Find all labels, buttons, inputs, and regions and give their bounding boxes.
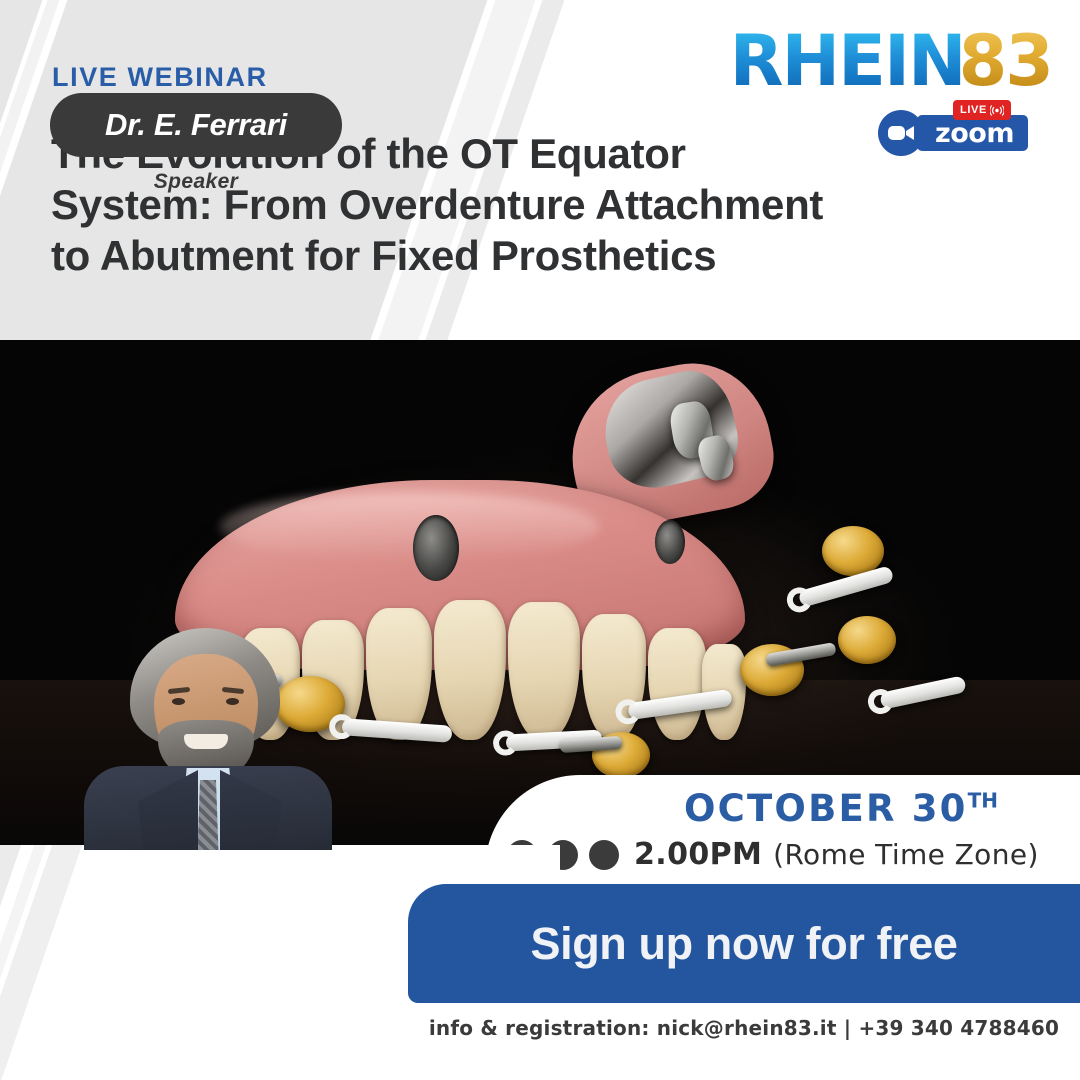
title-line-3: to Abutment for Fixed Prosthetics — [51, 230, 951, 281]
event-timezone: (Rome Time Zone) — [773, 838, 1039, 871]
denture-gum-highlight — [220, 492, 600, 562]
broadcast-waves-icon — [990, 105, 1004, 116]
event-time: 2.00PM (Rome Time Zone) — [634, 837, 1039, 872]
zoom-live-badge: LIVE zoom — [878, 110, 1028, 156]
speaker-name-label: Dr. E. Ferrari — [105, 107, 287, 143]
speaker-name-pill: Dr. E. Ferrari — [50, 93, 342, 157]
live-badge-label: LIVE — [960, 104, 987, 116]
brand-83-text: 83 — [959, 20, 1052, 102]
screw-access-hole-2 — [655, 520, 685, 564]
event-date: OCTOBER 30TH — [485, 787, 1040, 830]
speaker-eye-left — [172, 698, 185, 705]
speaker-role-label: Speaker — [50, 170, 342, 194]
video-camera-icon — [878, 110, 924, 156]
footer-contact-info[interactable]: info & registration: nick@rhein83.it | +… — [408, 1016, 1080, 1040]
hero-product-photo — [0, 340, 1080, 850]
webinar-poster: LIVE WEBINAR The Evolution of the OT Equ… — [0, 0, 1080, 1080]
eyebrow-live-webinar: LIVE WEBINAR — [52, 62, 268, 93]
sign-up-button-label: Sign up now for free — [531, 918, 958, 970]
sign-up-button[interactable]: Sign up now for free — [408, 884, 1080, 1003]
gold-abutment-5 — [838, 616, 896, 664]
event-time-value: 2.00PM — [634, 837, 762, 872]
live-badge-pill: LIVE — [953, 100, 1011, 120]
screw-access-hole-1 — [413, 515, 459, 581]
event-time-row: 2.00PM (Rome Time Zone) — [507, 837, 1039, 872]
event-date-suffix: TH — [968, 789, 998, 813]
brand-rhein-text: RHEIN — [730, 20, 965, 102]
speaker-portrait — [74, 628, 342, 850]
rhein83-logo: RHEIN83 LIVE — [752, 26, 1052, 146]
zoom-wordmark-stack: LIVE zoom — [917, 115, 1028, 151]
speaker-eye-right — [226, 698, 239, 705]
brand-wordmark: RHEIN83 — [730, 26, 1052, 96]
speaker-smile — [184, 734, 228, 749]
event-date-text: OCTOBER 30 — [684, 787, 968, 830]
zoom-label: zoom — [917, 115, 1028, 151]
